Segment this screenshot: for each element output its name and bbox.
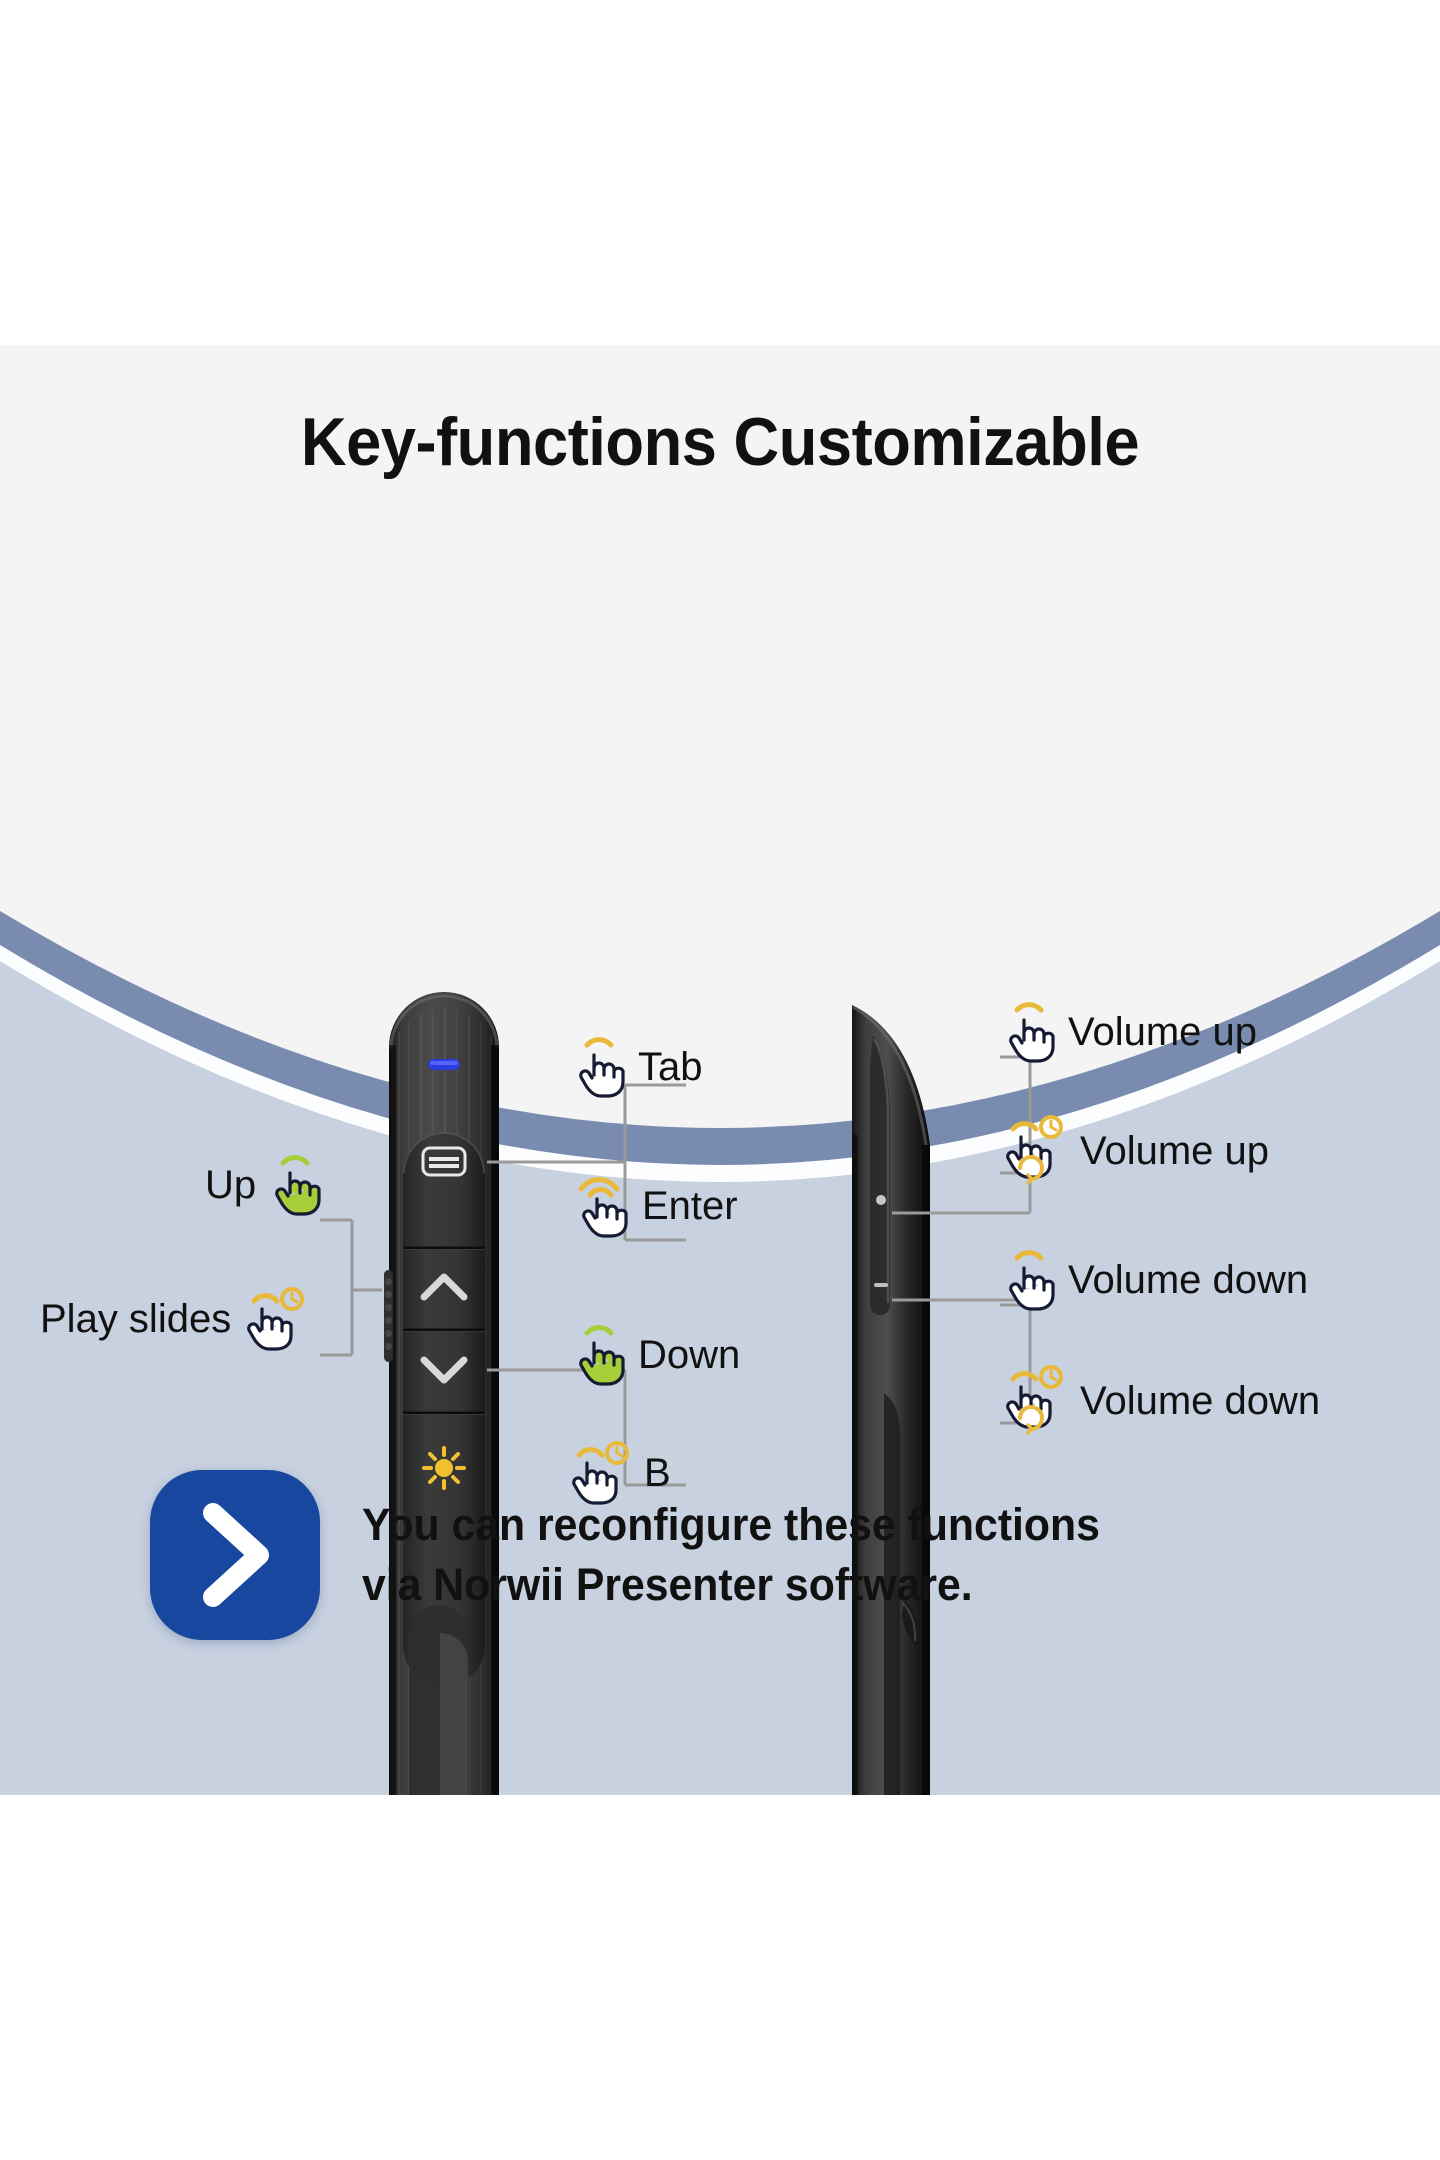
long-press-repeat-icon <box>1000 1365 1070 1437</box>
chevron-right-icon <box>189 1499 281 1611</box>
chevron-right-badge <box>150 1470 320 1640</box>
banner-line-2: via Norwii Presenter software. <box>362 1555 1100 1615</box>
callout-tab: Tab <box>570 1035 703 1099</box>
banner-text: You can reconfigure these functions via … <box>362 1495 1100 1615</box>
callout-volume-up-tap: Volume up <box>1000 1000 1257 1064</box>
long-press-icon <box>241 1287 309 1351</box>
callout-label-volume-down-hold: Volume down <box>1080 1381 1320 1421</box>
callout-label-volume-down: Volume down <box>1068 1260 1308 1300</box>
callout-down: Down <box>570 1323 740 1387</box>
callout-volume-down-tap: Volume down <box>1000 1248 1308 1312</box>
callout-label-up: Up <box>205 1165 256 1205</box>
callout-enter: Enter <box>570 1173 738 1239</box>
infographic-card: Key-functions Customizable <box>0 345 1440 1795</box>
callout-label-tab: Tab <box>638 1047 703 1087</box>
callout-play-slides: Play slides <box>40 1287 309 1351</box>
reconfigure-banner: You can reconfigure these functions via … <box>150 1470 1139 1640</box>
callout-volume-up-hold: Volume up <box>1000 1115 1269 1187</box>
long-press-repeat-icon <box>1000 1115 1070 1187</box>
callout-label-volume-up-hold: Volume up <box>1080 1131 1269 1171</box>
single-tap-green-icon <box>266 1153 324 1217</box>
single-tap-icon <box>570 1035 628 1099</box>
double-tap-icon <box>570 1173 632 1239</box>
callout-volume-down-hold: Volume down <box>1000 1365 1320 1437</box>
banner-line-1: You can reconfigure these functions <box>362 1495 1100 1555</box>
callout-label-down: Down <box>638 1335 740 1375</box>
single-tap-green-icon <box>570 1323 628 1387</box>
callout-label-volume-up: Volume up <box>1068 1012 1257 1052</box>
callout-label-play-slides: Play slides <box>40 1299 231 1339</box>
callout-up: Up <box>205 1153 324 1217</box>
callout-label-enter: Enter <box>642 1186 738 1226</box>
single-tap-icon <box>1000 1000 1058 1064</box>
single-tap-icon <box>1000 1248 1058 1312</box>
